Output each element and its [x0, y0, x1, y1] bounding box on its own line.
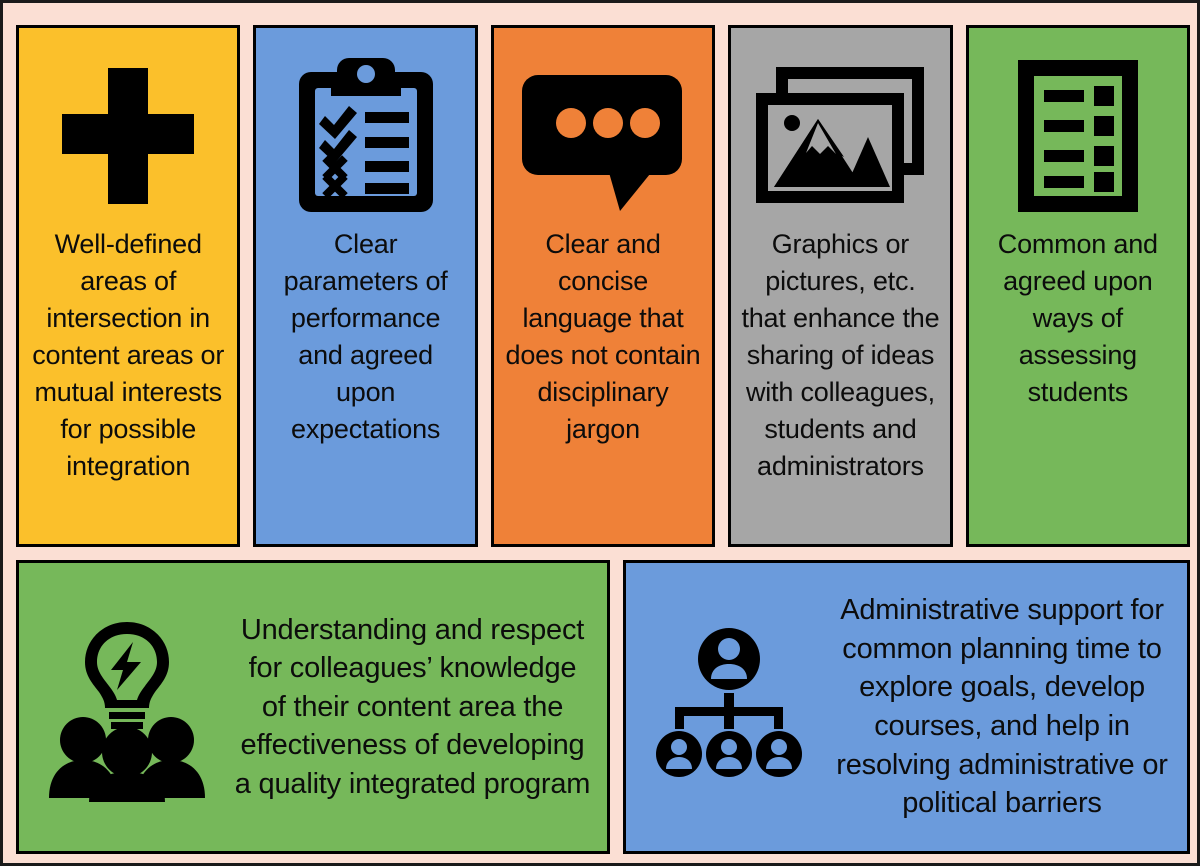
card-text: Graphics or pictures, etc. that enhance …	[731, 226, 949, 495]
card-text: Clear parameters of performance and agre…	[256, 226, 474, 458]
infographic-poster: Well-defined areas of intersection in co…	[0, 0, 1200, 866]
top-card-row: Well-defined areas of intersection in co…	[16, 25, 1190, 547]
card-common-assessment[interactable]: Common and agreed upon ways of assessing…	[966, 25, 1190, 547]
card-well-defined-areas[interactable]: Well-defined areas of intersection in co…	[16, 25, 240, 547]
card-text: Common and agreed upon ways of assessing…	[969, 226, 1187, 421]
card-administrative-support[interactable]: Administrative support for common planni…	[623, 560, 1190, 854]
card-text: Understanding and respect for colleagues…	[234, 611, 607, 804]
checklist-document-icon	[969, 46, 1187, 226]
photos-stack-icon	[731, 46, 949, 226]
card-clear-concise-language[interactable]: Clear and concise language that does not…	[491, 25, 715, 547]
card-text: Clear and concise language that does not…	[494, 226, 712, 458]
plus-icon	[19, 46, 237, 226]
bottom-card-row: Understanding and respect for colleagues…	[16, 560, 1190, 854]
speech-bubble-icon	[494, 46, 712, 226]
card-understanding-respect[interactable]: Understanding and respect for colleagues…	[16, 560, 610, 854]
card-text: Administrative support for common planni…	[831, 591, 1187, 822]
lightbulb-team-icon	[19, 612, 234, 802]
clipboard-checklist-icon	[256, 46, 474, 226]
card-text: Well-defined areas of intersection in co…	[19, 226, 237, 495]
card-graphics-pictures[interactable]: Graphics or pictures, etc. that enhance …	[728, 25, 952, 547]
org-chart-icon	[626, 627, 831, 787]
card-clear-parameters[interactable]: Clear parameters of performance and agre…	[253, 25, 477, 547]
